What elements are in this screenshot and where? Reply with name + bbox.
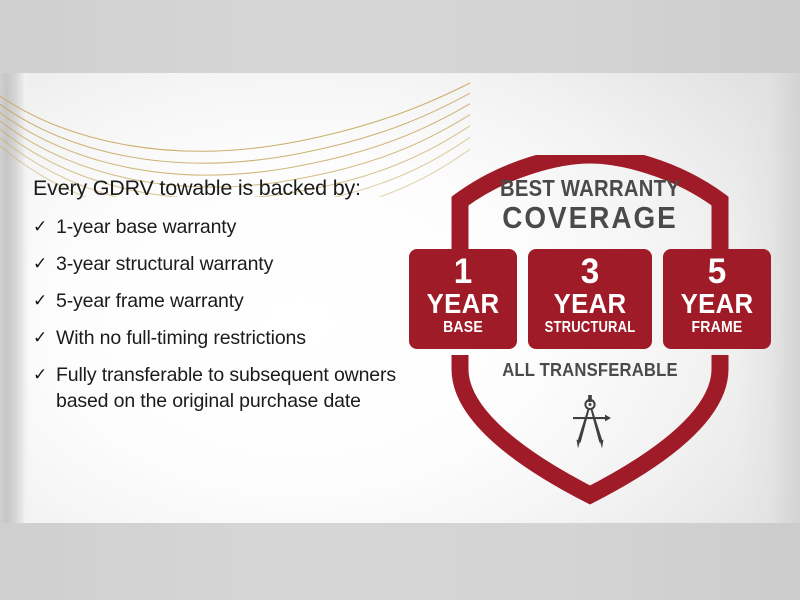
term-box-frame: 5 YEAR FRAME xyxy=(663,249,771,349)
drafting-compass-icon xyxy=(567,393,613,449)
badge-footer-label: ALL TRANSFERABLE xyxy=(415,359,764,381)
term-unit: YEAR xyxy=(533,290,647,317)
list-item-label: 5-year frame warranty xyxy=(56,288,244,314)
left-edge-shadow xyxy=(0,73,30,523)
artwork-canvas: Every GDRV towable is backed by: ✓ 1-yea… xyxy=(0,73,800,523)
list-item-label: 1-year base warranty xyxy=(56,214,236,240)
badge-heading: BEST WARRANTY COVERAGE xyxy=(396,177,784,234)
term-box-base: 1 YEAR BASE xyxy=(409,249,517,349)
term-label: FRAME xyxy=(669,318,764,337)
warranty-term-boxes: 1 YEAR BASE 3 YEAR STRUCTURAL 5 YEAR FRA… xyxy=(409,249,771,349)
check-icon: ✓ xyxy=(33,288,56,314)
check-icon: ✓ xyxy=(33,362,56,388)
list-item-label: With no full-timing restrictions xyxy=(56,325,306,351)
letterbox-bar-bottom xyxy=(0,523,800,600)
term-box-structural: 3 YEAR STRUCTURAL xyxy=(528,249,652,349)
list-item-label: 3-year structural warranty xyxy=(56,251,273,277)
page-title: Every GDRV towable is backed by: xyxy=(33,176,433,201)
warranty-badge: BEST WARRANTY COVERAGE 1 YEAR BASE 3 YEA… xyxy=(396,155,784,505)
check-icon: ✓ xyxy=(33,251,56,277)
term-label: BASE xyxy=(415,318,510,337)
badge-heading-line1: BEST WARRANTY xyxy=(419,177,760,201)
letterbox-bar-top xyxy=(0,0,800,73)
check-icon: ✓ xyxy=(33,325,56,351)
list-item-label: Fully transferable to subsequent owners … xyxy=(56,362,416,414)
term-number: 1 xyxy=(412,254,515,290)
list-item: ✓ With no full-timing restrictions xyxy=(33,325,433,351)
warranty-copy-column: Every GDRV towable is backed by: ✓ 1-yea… xyxy=(33,176,433,414)
list-item: ✓ Fully transferable to subsequent owner… xyxy=(33,362,433,414)
check-icon: ✓ xyxy=(33,214,56,240)
term-number: 3 xyxy=(531,254,649,290)
list-item: ✓ 3-year structural warranty xyxy=(33,251,433,277)
badge-heading-line2: COVERAGE xyxy=(415,202,764,234)
term-unit: YEAR xyxy=(667,290,766,317)
term-label: STRUCTURAL xyxy=(538,318,642,337)
list-item: ✓ 5-year frame warranty xyxy=(33,288,433,314)
term-unit: YEAR xyxy=(413,290,512,317)
term-number: 5 xyxy=(666,254,769,290)
promo-slide: Every GDRV towable is backed by: ✓ 1-yea… xyxy=(0,0,800,600)
list-item: ✓ 1-year base warranty xyxy=(33,214,433,240)
